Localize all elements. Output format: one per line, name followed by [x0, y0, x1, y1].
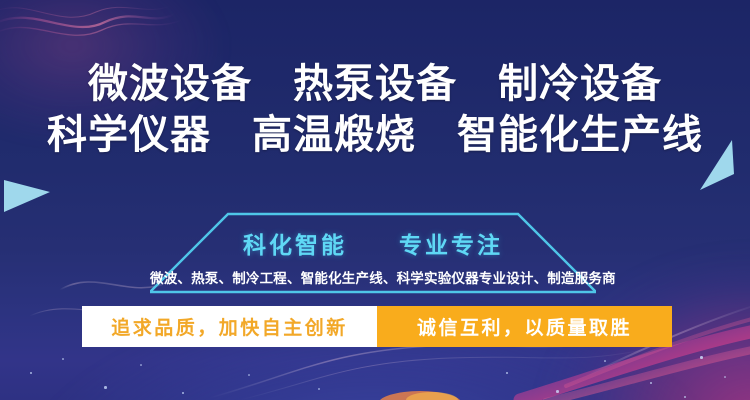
left-triangle-icon [4, 178, 50, 212]
headline-line-1: 微波设备 热泵设备 制冷设备 [0, 62, 750, 107]
headline-line-2: 科学仪器 高温煅烧 智能化生产线 [0, 113, 750, 158]
slogan-right[interactable]: 诚信互利，以质量取胜 [377, 306, 672, 347]
headline: 微波设备 热泵设备 制冷设备 科学仪器 高温煅烧 智能化生产线 [0, 62, 750, 158]
promo-banner: 微波设备 热泵设备 制冷设备 科学仪器 高温煅烧 智能化生产线 科化智能 专业专… [0, 0, 750, 400]
slogan-left[interactable]: 追求品质，加快自主创新 [82, 306, 377, 347]
panel-title: 科化智能 专业专注 [150, 226, 596, 260]
panel-subtitle: 微波、热泵、制冷工程、智能化生产线、科学实验仪器专业设计、制造服务商 [150, 267, 596, 287]
tagline-panel: 科化智能 专业专注 微波、热泵、制冷工程、智能化生产线、科学实验仪器专业设计、制… [150, 210, 596, 296]
slogan-bar-group: 追求品质，加快自主创新 诚信互利，以质量取胜 [82, 306, 672, 347]
